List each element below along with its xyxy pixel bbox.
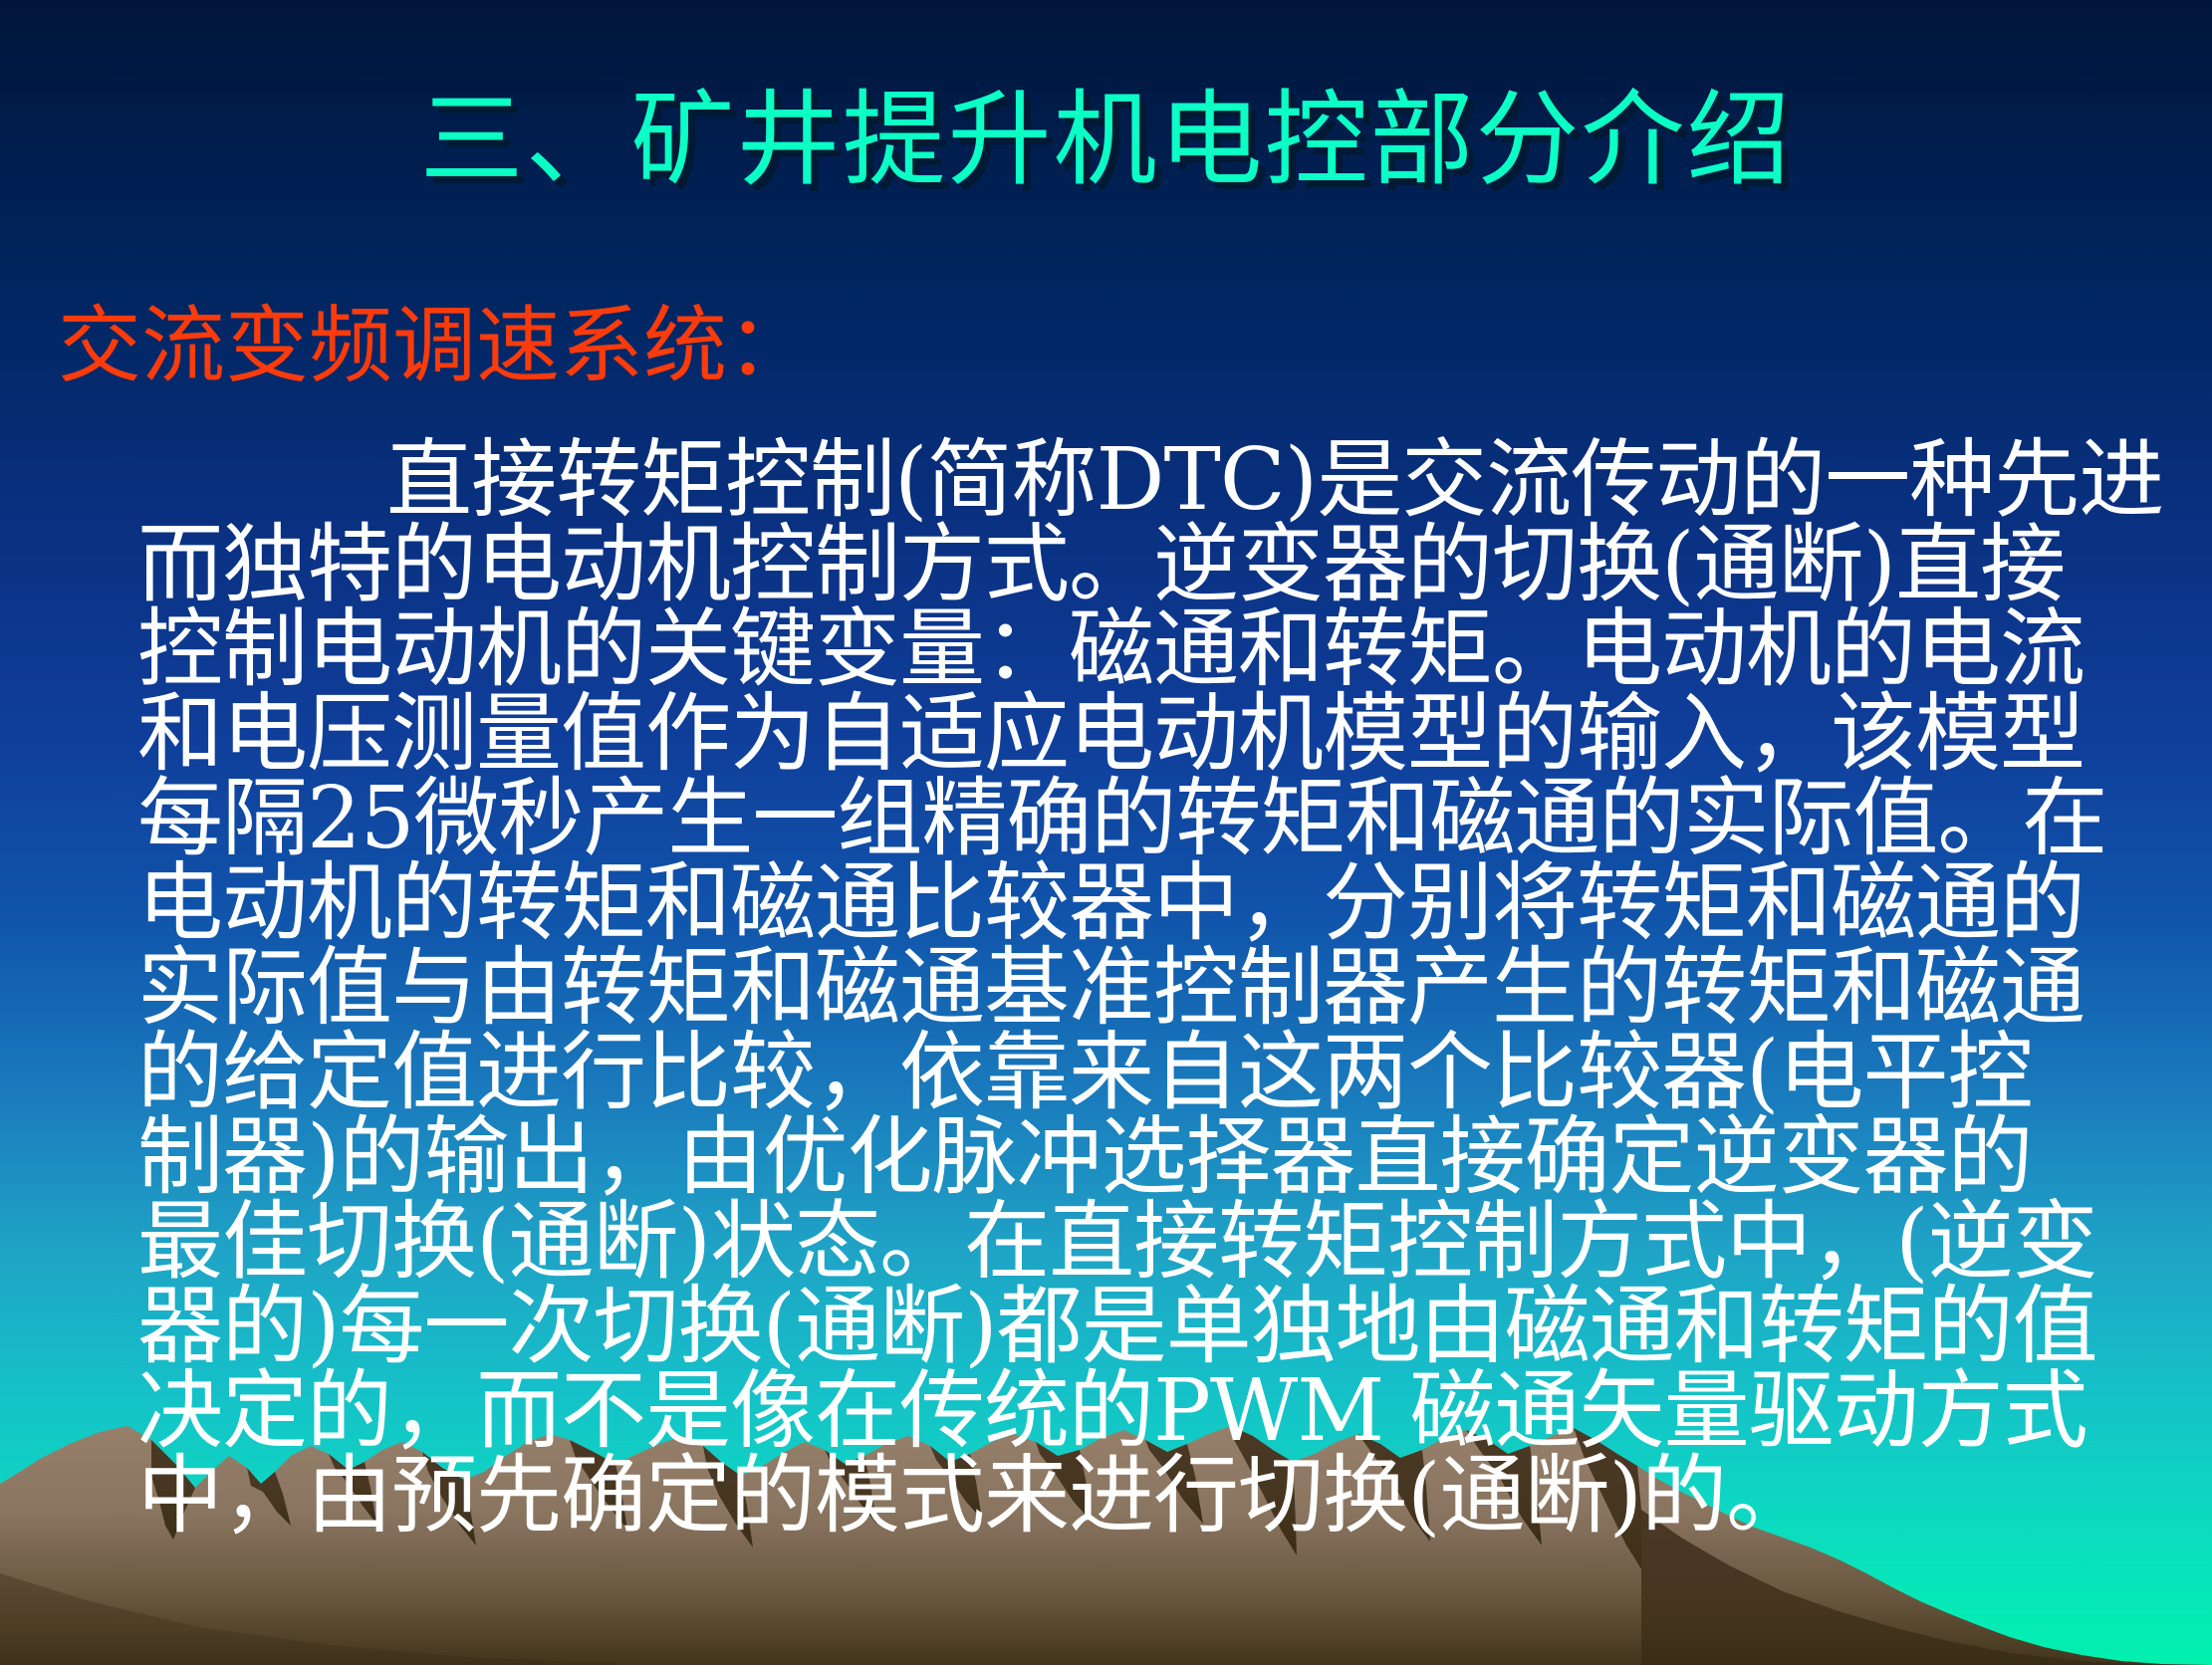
body-line: 控制电动机的关键变量：磁通和转矩。电动机的电流 bbox=[137, 607, 2089, 692]
body-line: 而独特的电动机控制方式。逆变器的切换(通断)直接 bbox=[137, 523, 2089, 607]
page-title: 三、矿井提升机电控部分介绍 bbox=[419, 86, 1792, 194]
body-line: 中，由预先确定的模式来进行切换(通断)的。 bbox=[137, 1454, 2089, 1539]
body-line: 直接转矩控制(简称DTC)是交流传动的一种先进 bbox=[137, 438, 2089, 523]
body-line: 每隔25微秒产生一组精确的转矩和磁通的实际值。在 bbox=[137, 777, 2089, 861]
body-line: 电动机的转矩和磁通比较器中，分别将转矩和磁通的 bbox=[137, 861, 2089, 946]
body-line: 和电压测量值作为自适应电动机模型的输入，该模型 bbox=[137, 692, 2089, 777]
body-line: 决定的，而不是像在传统的PWM 磁通矢量驱动方式 bbox=[137, 1369, 2089, 1454]
body-line: 器的)每一次切换(通断)都是单独地由磁通和转矩的值 bbox=[137, 1285, 2089, 1369]
slide-subtitle: 交流变频调速系统： bbox=[58, 304, 2149, 387]
body-line: 制器)的输出，由优化脉冲选择器直接确定逆变器的 bbox=[137, 1115, 2089, 1200]
body-line: 最佳切换(通断)状态。在直接转矩控制方式中，(逆变 bbox=[137, 1200, 2089, 1285]
slide-body-text: 直接转矩控制(简称DTC)是交流传动的一种先进 而独特的电动机控制方式。逆变器的… bbox=[137, 438, 2089, 1539]
body-line: 的给定值进行比较，依靠来自这两个比较器(电平控 bbox=[137, 1031, 2089, 1115]
slide-subtitle-container: 交流变频调速系统： bbox=[58, 304, 2149, 387]
slide-title-container: 三、矿井提升机电控部分介绍 bbox=[0, 86, 2212, 194]
presentation-slide: 三、矿井提升机电控部分介绍 交流变频调速系统： 直接转矩控制(简称DTC)是交流… bbox=[0, 0, 2212, 1665]
body-line: 实际值与由转矩和磁通基准控制器产生的转矩和磁通 bbox=[137, 946, 2089, 1031]
